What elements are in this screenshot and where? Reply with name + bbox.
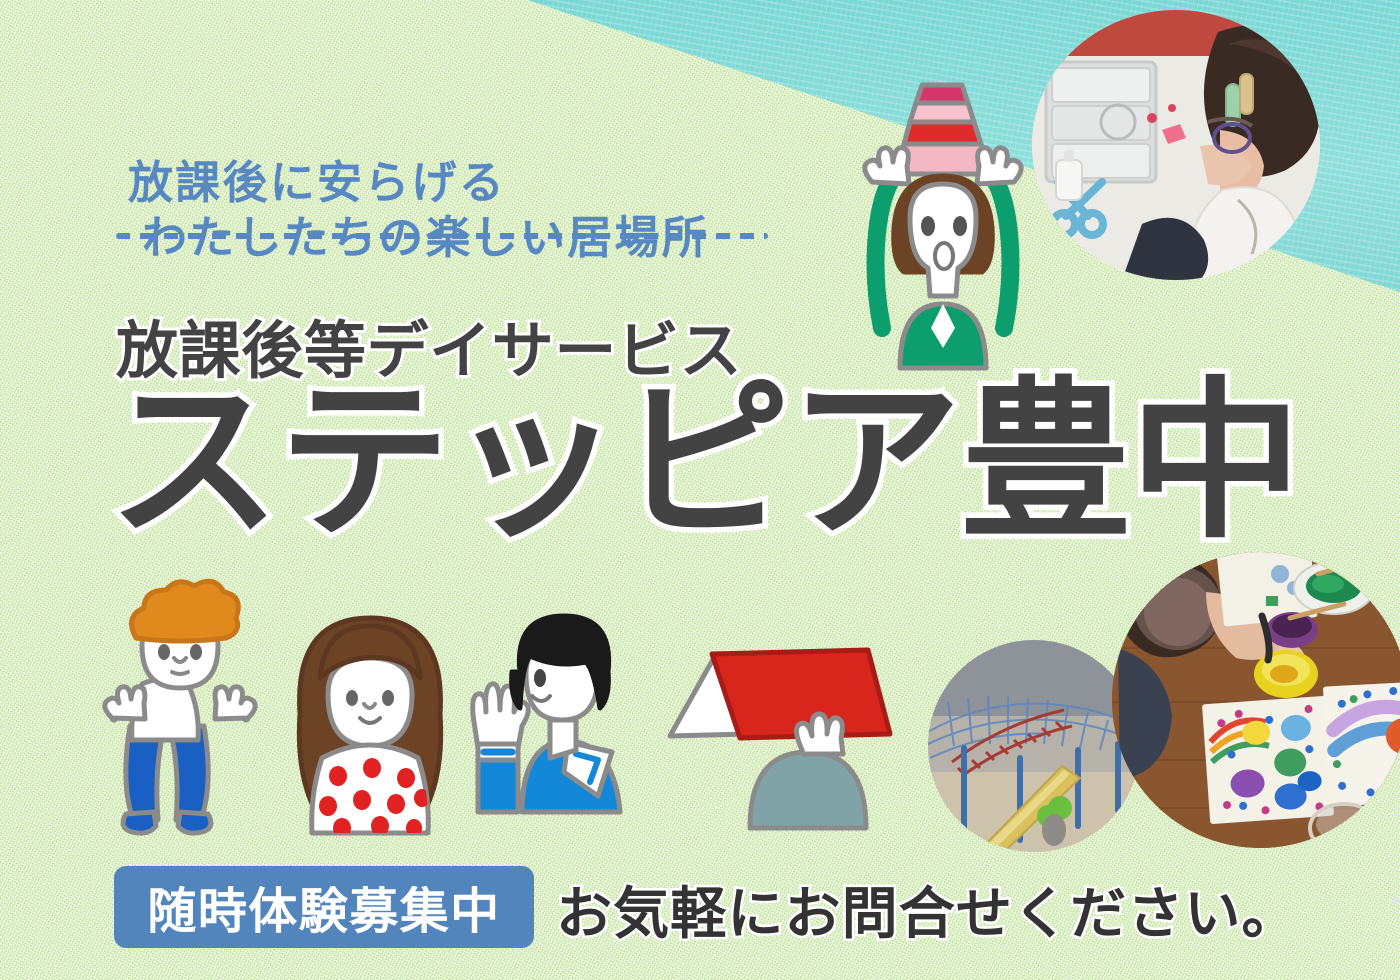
trial-recruiting-badge[interactable]: 随時体験募集中 (114, 866, 534, 948)
illustration-girl-polka-dot-shirt (276, 608, 466, 833)
dashed-divider (116, 233, 768, 239)
photo-child-craft (1032, 10, 1320, 280)
illustration-child-holding-cake (838, 78, 1048, 368)
illustration-child-orange-hair (96, 586, 276, 836)
photo-indoor-playground (928, 640, 1140, 852)
lead-line-1: 放課後に安らげる (128, 157, 506, 208)
page-title: ステッピア豊中 (108, 372, 1300, 552)
contact-message: お気軽にお問合せください。 (556, 869, 1299, 950)
photo-watercolor-painting (1112, 552, 1400, 848)
lead-copy: 放課後に安らげる わたしたちの楽しい居場所 (128, 100, 709, 320)
banner-root: 放課後に安らげる わたしたちの楽しい居場所 放課後等デイサービス ステッピア豊中 (0, 0, 1400, 980)
illustration-child-raising-hand (464, 612, 654, 827)
illustration-person-holding-book (654, 638, 904, 828)
